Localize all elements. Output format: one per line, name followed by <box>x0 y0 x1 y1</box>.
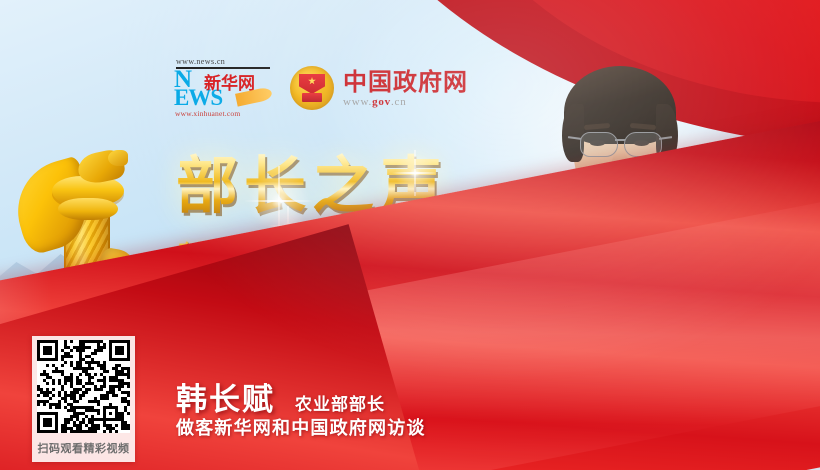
guest-role: 农业部部长 <box>295 390 385 415</box>
gov-name-cn: 中国政府网 <box>343 69 468 95</box>
minister-voice-banner: www.news.cn N EWS 新华网 www.xinhuanet.com … <box>0 0 820 470</box>
portrait-eyeglass-lens-left <box>580 132 618 157</box>
guest-name: 韩长赋 <box>176 374 275 419</box>
portrait-eyeglass-bridge <box>615 139 625 141</box>
gov-text-group: 中国政府网 www.gov.cn <box>343 69 468 108</box>
gov-url: www.gov.cn <box>343 96 468 108</box>
gov-url-prefix: www. <box>343 96 372 108</box>
gov-cn-logo[interactable]: 中国政府网 www.gov.cn <box>290 66 468 110</box>
guest-name-row: 韩长赋 农业部部长 <box>176 374 385 419</box>
huabiao-beast-head <box>108 150 128 166</box>
xinhua-url-bottom: www.xinhuanet.com <box>175 109 240 118</box>
portrait-hair-side-left <box>562 104 584 162</box>
gov-url-suffix: .cn <box>391 96 407 108</box>
gov-url-main: gov <box>372 96 391 108</box>
logo-bar: www.news.cn N EWS 新华网 www.xinhuanet.com … <box>174 57 468 119</box>
china-national-emblem-icon <box>290 66 334 110</box>
qr-caption: 扫码观看精彩视频 <box>32 440 135 456</box>
interview-subline: 做客新华网和中国政府网访谈 <box>176 414 426 440</box>
xinhuanet-logo[interactable]: www.news.cn N EWS 新华网 www.xinhuanet.com <box>174 57 272 119</box>
qr-code-panel[interactable]: 扫码观看精彩视频 <box>32 336 135 462</box>
qr-code-icon[interactable] <box>37 340 130 433</box>
huabiao-disc-lower <box>58 198 118 220</box>
emblem-gate <box>302 93 322 102</box>
